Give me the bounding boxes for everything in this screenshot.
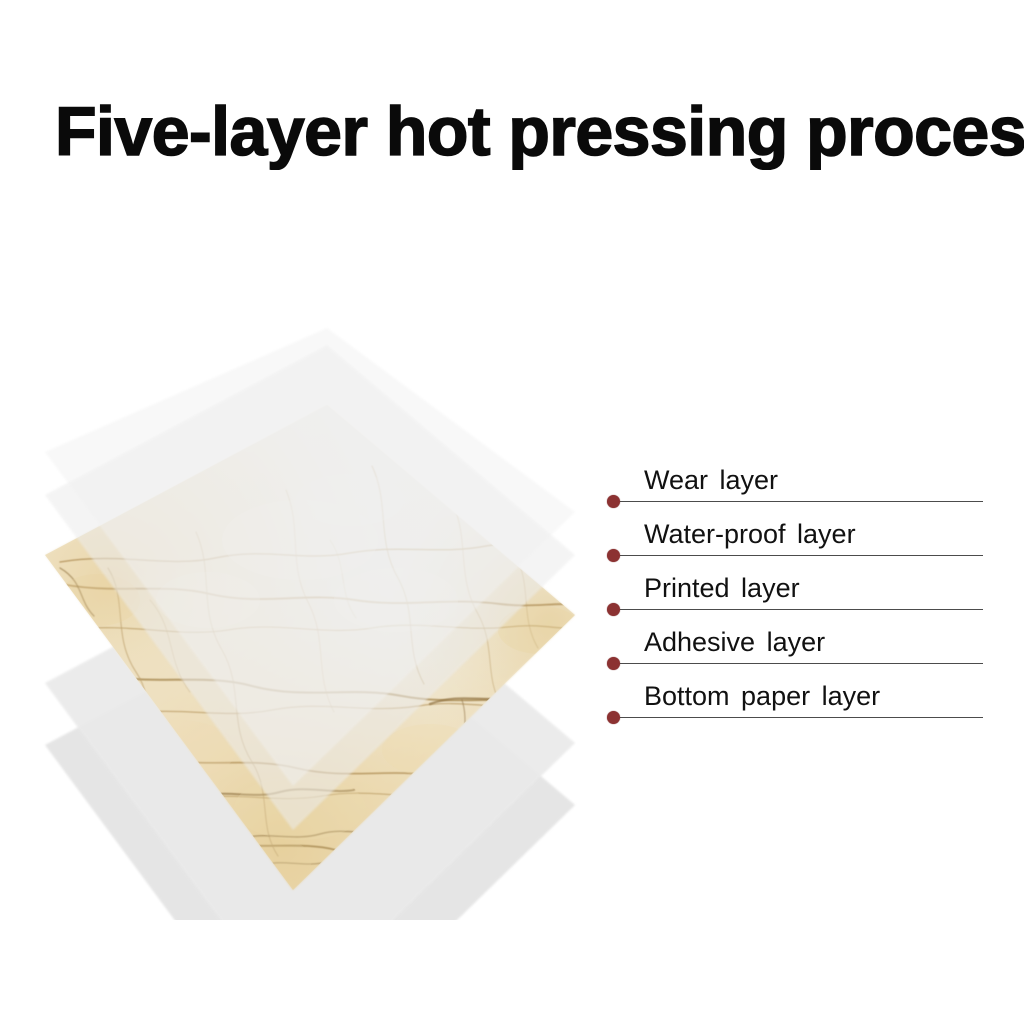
layer-stack-illustration: [0, 300, 610, 920]
callout-label-bottom-paper-layer: Bottom paper layer: [644, 680, 880, 712]
callout-label-adhesive-layer: Adhesive layer: [644, 626, 825, 658]
callout-list: Wear layer Water-proof layer Printed lay…: [600, 448, 1000, 748]
callout-dot-icon: [607, 711, 620, 724]
callout-rule: [618, 717, 983, 718]
callout-label-wear-layer: Wear layer: [644, 464, 778, 496]
callout-wear-layer[interactable]: Wear layer: [600, 448, 990, 502]
callout-label-printed-layer: Printed layer: [644, 572, 800, 604]
diagram-canvas: Five-layer hot pressing process: [0, 0, 1024, 1024]
page-title: Five-layer hot pressing process: [55, 96, 966, 168]
callout-label-water-proof-layer: Water-proof layer: [644, 518, 856, 550]
callout-bottom-paper-layer[interactable]: Bottom paper layer: [600, 664, 990, 718]
callout-printed-layer[interactable]: Printed layer: [600, 556, 990, 610]
callout-water-proof-layer[interactable]: Water-proof layer: [600, 502, 990, 556]
callout-adhesive-layer[interactable]: Adhesive layer: [600, 610, 990, 664]
